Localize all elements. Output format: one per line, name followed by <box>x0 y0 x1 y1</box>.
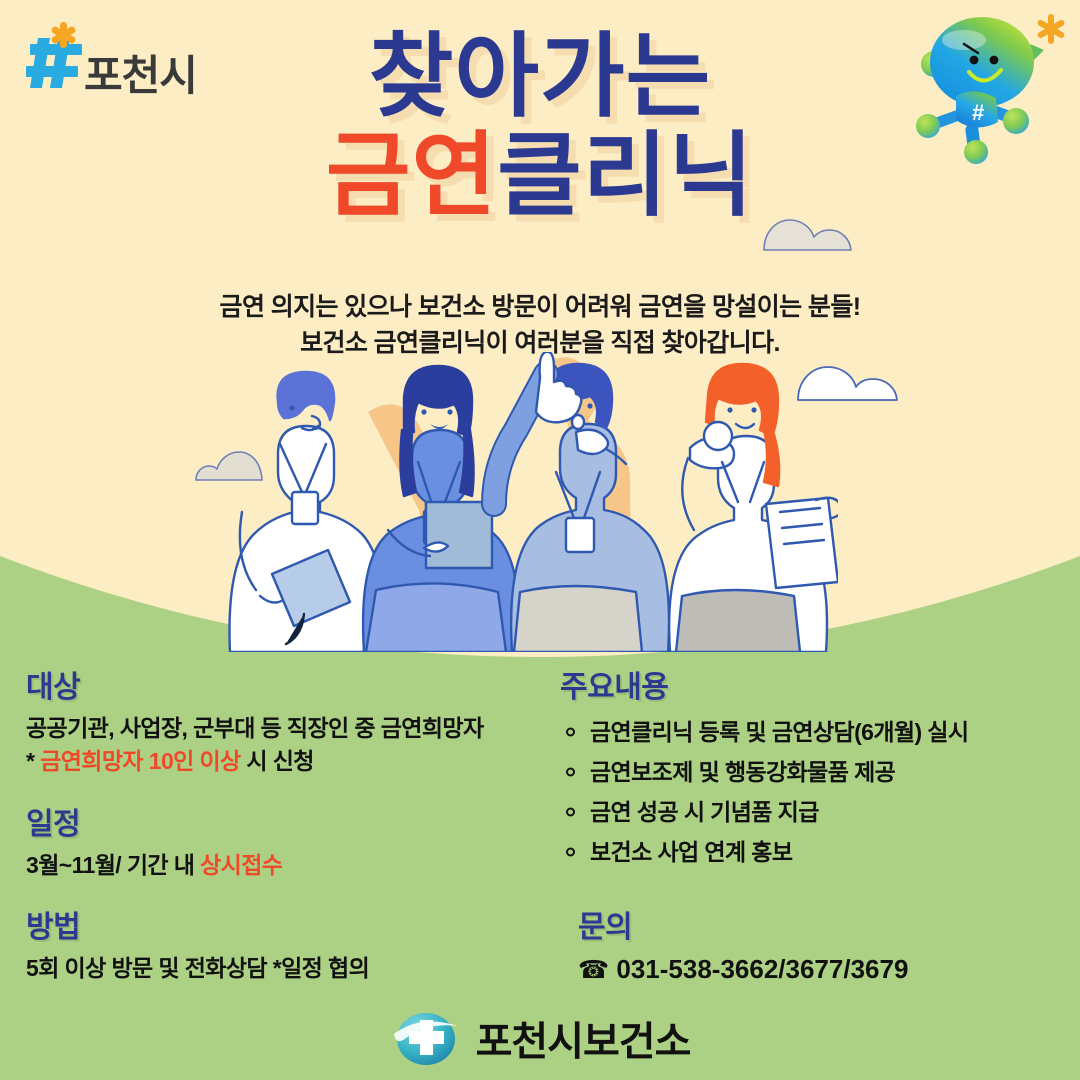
main-content-list: 금연클리닉 등록 및 금연상담(6개월) 실시 금연보조제 및 행동강화물품 제… <box>560 712 1070 872</box>
title-line-1: 찾아가는 <box>0 28 1080 127</box>
target-body-line-1: 공공기관, 사업장, 군부대 등 직장인 중 금연희망자 <box>26 712 566 745</box>
bullet-circle-icon <box>566 728 575 737</box>
main-content-item-text: 금연클리닉 등록 및 금연상담(6개월) 실시 <box>590 719 968 745</box>
info-block-main-content: 주요내용 금연클리닉 등록 및 금연상담(6개월) 실시 금연보조제 및 행동강… <box>560 662 1070 872</box>
main-content-item-text: 보건소 사업 연계 홍보 <box>590 839 792 865</box>
info-block-schedule: 일정 3월~11월/ 기간 내 상시접수 <box>26 799 566 882</box>
main-content-item-text: 금연보조제 및 행동강화물품 제공 <box>590 759 895 785</box>
cloud-gray-right <box>762 214 854 254</box>
health-center-cross-logo-icon <box>390 1008 462 1068</box>
list-item: 금연보조제 및 행동강화물품 제공 <box>560 752 1070 792</box>
list-item: 보건소 사업 연계 홍보 <box>560 832 1070 872</box>
info-block-method: 방법 5회 이상 방문 및 전화상담 *일정 협의 <box>26 902 546 985</box>
subtitle-line-1: 금연 의지는 있으나 보건소 방문이 어려워 금연을 망설이는 분들! <box>0 290 1080 326</box>
target-heading: 대상 <box>26 662 566 706</box>
bullet-circle-icon <box>566 768 575 777</box>
schedule-highlight: 상시접수 <box>200 852 282 878</box>
bullet-circle-icon <box>566 848 575 857</box>
schedule-period: 3월~11월/ 기간 내 <box>26 852 200 878</box>
info-section: 대상 공공기관, 사업장, 군부대 등 직장인 중 금연희망자 * 금연희망자 … <box>0 662 1080 1007</box>
poster-subtitle: 금연 의지는 있으나 보건소 방문이 어려워 금연을 망설이는 분들! 보건소 … <box>0 290 1080 361</box>
poster-root: 포천시 <box>0 0 1080 1080</box>
method-heading: 방법 <box>26 902 546 946</box>
title-word-geumyeon: 금연 <box>326 125 497 227</box>
inquiry-phone-number: 031-538-3662/3677/3679 <box>616 954 908 984</box>
main-content-heading: 주요내용 <box>560 662 1070 706</box>
method-body: 5회 이상 방문 및 전화상담 *일정 협의 <box>26 952 546 985</box>
footer: 포천시보건소 <box>0 1008 1080 1068</box>
schedule-body: 3월~11월/ 기간 내 상시접수 <box>26 849 566 882</box>
info-left-column: 대상 공공기관, 사업장, 군부대 등 직장인 중 금연희망자 * 금연희망자 … <box>26 662 566 900</box>
footer-organization-name: 포천시보건소 <box>476 1009 691 1067</box>
target-highlight: 금연희망자 10인 이상 <box>40 748 240 774</box>
info-block-target: 대상 공공기관, 사업장, 군부대 등 직장인 중 금연희망자 * 금연희망자 … <box>26 662 566 777</box>
target-suffix: 시 신청 <box>241 748 314 774</box>
info-block-inquiry: 문의 ☎ 031-538-3662/3677/3679 <box>578 902 1058 985</box>
main-content-item-text: 금연 성공 시 기념품 지급 <box>590 799 819 825</box>
title-line-2: 금연클리닉 <box>0 127 1080 226</box>
bullet-circle-icon <box>566 808 575 817</box>
four-office-workers-illustration <box>218 352 838 652</box>
telephone-icon: ☎ <box>578 956 609 984</box>
target-body-line-2: * 금연희망자 10인 이상 시 신청 <box>26 745 566 778</box>
info-right-column: 주요내용 금연클리닉 등록 및 금연상담(6개월) 실시 금연보조제 및 행동강… <box>560 662 1070 894</box>
poster-title: 찾아가는 금연클리닉 <box>0 28 1080 227</box>
schedule-heading: 일정 <box>26 799 566 843</box>
inquiry-phone: ☎ 031-538-3662/3677/3679 <box>578 954 1058 985</box>
target-asterisk: * <box>26 748 40 774</box>
list-item: 금연클리닉 등록 및 금연상담(6개월) 실시 <box>560 712 1070 752</box>
title-word-clinic: 클리닉 <box>497 125 754 227</box>
inquiry-heading: 문의 <box>578 902 1058 946</box>
list-item: 금연 성공 시 기념품 지급 <box>560 792 1070 832</box>
